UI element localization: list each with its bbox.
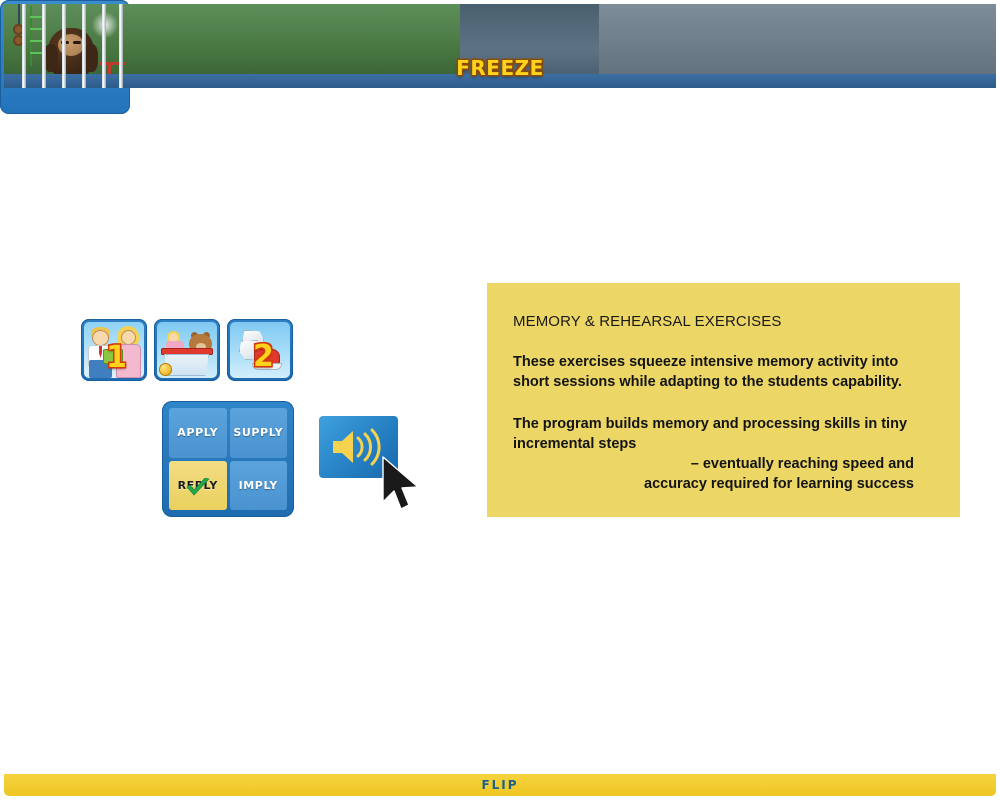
tile-number-badge: 2 — [253, 342, 274, 372]
word-label: IMPLY — [239, 479, 278, 492]
paragraph-line: accuracy required for learning success — [513, 474, 914, 494]
flip-button[interactable]: FLIP — [4, 774, 996, 796]
paragraph-line: short sessions while adapting to the stu… — [513, 372, 934, 392]
word-choice-grid[interactable]: APPLY SUPPLY REPLY IMPLY — [162, 401, 294, 517]
tile-toy-box[interactable] — [154, 319, 220, 381]
hanging-rope — [18, 4, 20, 26]
word-cell-supply[interactable]: SUPPLY — [230, 408, 288, 458]
paragraph-line: incremental steps — [513, 434, 934, 454]
toy-ball — [159, 363, 172, 376]
paragraph-line: – eventually reaching speed and — [513, 454, 914, 474]
flip-button-label: FLIP — [481, 778, 518, 792]
panel-title: MEMORY & REHEARSAL EXERCISES — [513, 313, 934, 330]
word-cell-reply[interactable]: REPLY — [169, 461, 227, 511]
panel-paragraph-3: – eventually reaching speed and accuracy… — [513, 454, 934, 494]
word-cell-apply[interactable]: APPLY — [169, 408, 227, 458]
word-cell-imply[interactable]: IMPLY — [230, 461, 288, 511]
cartoon-scene-kids: 1 — [84, 322, 144, 378]
paragraph-line: The program builds memory and processing… — [513, 414, 934, 434]
mouse-cursor-icon — [380, 455, 424, 515]
tile-number-badge: 1 — [106, 343, 127, 373]
freeze-word-overlay: FREEZE — [4, 56, 996, 80]
panel-paragraph-2: The program builds memory and processing… — [513, 414, 934, 454]
check-mark-icon — [185, 478, 211, 498]
panel-paragraph-1: These exercises squeeze intensive memory… — [513, 352, 934, 392]
word-label: SUPPLY — [233, 426, 283, 439]
tile-paper-and-shoe[interactable]: 2 — [227, 319, 293, 381]
gorilla-eye-right — [73, 41, 81, 44]
paragraph-line: These exercises squeeze intensive memory… — [513, 352, 934, 372]
speaker-icon — [331, 428, 387, 466]
word-label: APPLY — [177, 426, 218, 439]
tile-kids-with-gift[interactable]: 1 — [81, 319, 147, 381]
cartoon-scene-paper: 2 — [230, 322, 290, 378]
gorilla-cage-scene: FREEZE — [4, 4, 996, 88]
toy-box-rim — [161, 348, 213, 355]
cartoon-scene-toybox — [157, 322, 217, 378]
tile-freeze-flip[interactable]: FREEZE FLIP — [0, 0, 130, 114]
info-panel: MEMORY & REHEARSAL EXERCISES These exerc… — [487, 283, 960, 517]
